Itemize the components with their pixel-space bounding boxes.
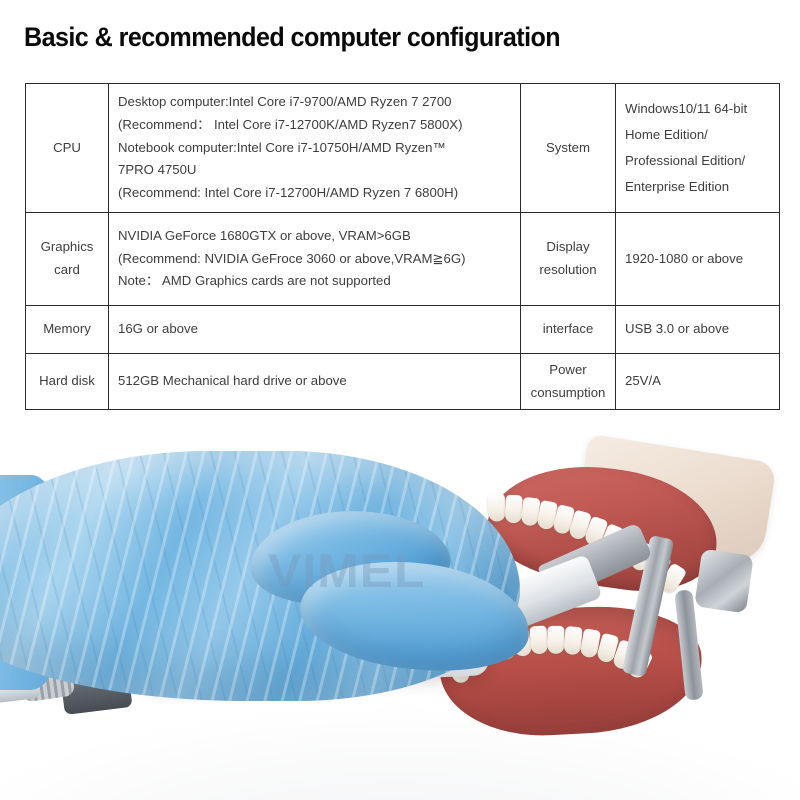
table-row: Memory 16G or above interface USB 3.0 or… [26, 306, 780, 354]
row-value-hard-disk: 512GB Mechanical hard drive or above [109, 354, 521, 410]
articulator-hinge [694, 549, 754, 614]
row-label-hard-disk: Hard disk [26, 354, 109, 410]
row-value-cpu: Desktop computer:Intel Core i7-9700/AMD … [109, 84, 521, 213]
row-label-power-consumption: Power consumption [521, 354, 616, 410]
row-label-system: System [521, 84, 616, 213]
gpu-line-2: (Recommend: NVIDIA GeFroce 3060 or above… [118, 248, 511, 271]
row-value-power-consumption: 25V/A [616, 354, 780, 410]
row-value-graphics-card: NVIDIA GeForce 1680GTX or above, VRAM>6G… [109, 213, 521, 306]
table-row: Graphics card NVIDIA GeForce 1680GTX or … [26, 213, 780, 306]
cpu-line-4: 7PRO 4750U [118, 159, 511, 182]
cpu-line-5: (Recommend: Intel Core i7-12700H/AMD Ryz… [118, 182, 511, 205]
row-label-graphics-card: Graphics card [26, 213, 109, 306]
system-line-1: Windows10/11 64-bit [625, 96, 770, 122]
system-line-2: Home Edition/ [625, 122, 770, 148]
gpu-line-1: NVIDIA GeForce 1680GTX or above, VRAM>6G… [118, 225, 511, 248]
system-line-3: Professional Edition/ [625, 148, 770, 174]
row-value-interface: USB 3.0 or above [616, 306, 780, 354]
computer-configuration-table: CPU Desktop computer:Intel Core i7-9700/… [25, 83, 780, 410]
cpu-line-3: Notebook computer:Intel Core i7-10750H/A… [118, 137, 511, 160]
row-value-system: Windows10/11 64-bit Home Edition/ Profes… [616, 84, 780, 213]
cpu-line-2: (Recommend： Intel Core i7-12700K/AMD Ryz… [118, 114, 511, 137]
row-label-interface: interface [521, 306, 616, 354]
gpu-line-3: Note： AMD Graphics cards are not support… [118, 270, 511, 293]
product-photo: VIMEL [0, 415, 800, 800]
row-value-memory: 16G or above [109, 306, 521, 354]
row-label-memory: Memory [26, 306, 109, 354]
row-label-cpu: CPU [26, 84, 109, 213]
page-title: Basic & recommended computer configurati… [24, 22, 560, 53]
row-label-display-resolution: Display resolution [521, 213, 616, 306]
row-value-display-resolution: 1920-1080 or above [616, 213, 780, 306]
page-root: Basic & recommended computer configurati… [0, 0, 800, 800]
table-row: Hard disk 512GB Mechanical hard drive or… [26, 354, 780, 410]
cpu-line-1: Desktop computer:Intel Core i7-9700/AMD … [118, 91, 511, 114]
table-row: CPU Desktop computer:Intel Core i7-9700/… [26, 84, 780, 213]
system-line-4: Enterprise Edition [625, 174, 770, 200]
